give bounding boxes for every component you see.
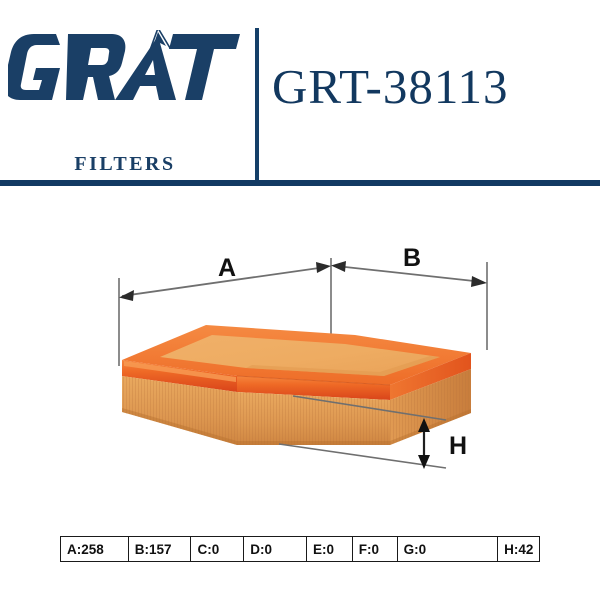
dimension-cell-f: F:0 (353, 537, 398, 561)
product-diagram: A B (0, 200, 600, 520)
dimension-arrowhead-a-right (316, 262, 331, 273)
dimension-cell-b: B:157 (129, 537, 192, 561)
page-header: FILTERS GRT-38113 (0, 0, 600, 186)
header-horizontal-rule (0, 180, 600, 186)
brand-subtitle: FILTERS (0, 154, 250, 174)
product-code: GRT-38113 (272, 62, 592, 111)
brand-logo: FILTERS (0, 14, 250, 174)
dimension-cell-e: E:0 (307, 537, 353, 561)
dimension-cell-c: C:0 (191, 537, 244, 561)
dimension-label-h: H (449, 432, 467, 460)
brand-wordmark-grat (8, 30, 248, 116)
dimension-cell-h: H:42 (498, 537, 539, 561)
dimension-label-a: A (218, 254, 236, 282)
air-filter-illustration (122, 325, 471, 445)
dimension-arrowhead-h-bottom (418, 455, 430, 469)
dimension-table: A:258 B:157 C:0 D:0 E:0 F:0 G:0 H:42 (60, 536, 540, 562)
dimension-cell-a: A:258 (61, 537, 129, 561)
dimension-arrowhead-a-left (119, 290, 134, 301)
dimension-cell-d: D:0 (244, 537, 307, 561)
dimension-cell-g: G:0 (398, 537, 499, 561)
header-vertical-divider (255, 28, 259, 181)
dimension-arrowhead-b-right (471, 276, 487, 287)
dimension-label-b: B (403, 244, 421, 272)
dimension-arrowhead-b-left (331, 261, 346, 272)
